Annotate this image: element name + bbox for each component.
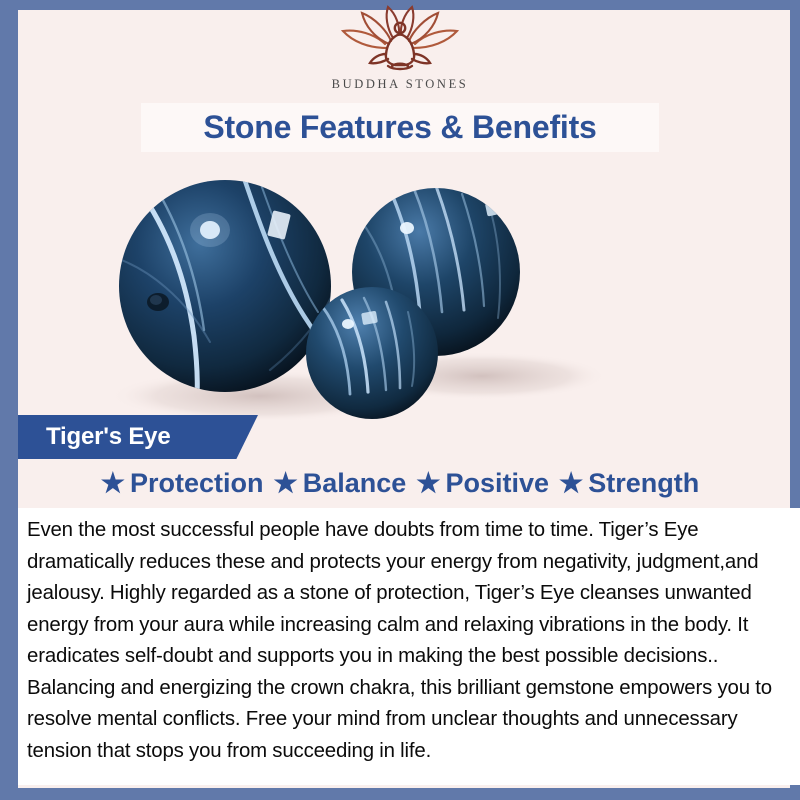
description-box: Even the most successful people have dou… bbox=[18, 508, 800, 785]
benefit-label: Strength bbox=[588, 468, 699, 499]
title-banner: Stone Features & Benefits bbox=[141, 103, 659, 152]
stone-name-ribbon: Tiger's Eye bbox=[18, 415, 258, 459]
benefit-balance: ★ Balance bbox=[273, 468, 406, 499]
star-icon: ★ bbox=[101, 470, 125, 497]
benefit-label: Positive bbox=[445, 468, 549, 499]
page-title: Stone Features & Benefits bbox=[203, 109, 596, 146]
star-icon: ★ bbox=[273, 470, 297, 497]
benefit-label: Balance bbox=[303, 468, 407, 499]
benefit-protection: ★ Protection bbox=[101, 468, 264, 499]
star-icon: ★ bbox=[416, 470, 440, 497]
gemstone-spheres-illustration bbox=[90, 160, 710, 420]
benefits-row: ★ Protection ★ Balance ★ Positive ★ Stre… bbox=[0, 462, 800, 504]
benefit-strength: ★ Strength bbox=[559, 468, 699, 499]
benefit-label: Protection bbox=[130, 468, 264, 499]
benefit-positive: ★ Positive bbox=[416, 468, 549, 499]
stone-photo bbox=[0, 160, 800, 420]
infographic-page: BUDDHA STONES Stone Features & Benefits bbox=[0, 0, 800, 800]
star-icon: ★ bbox=[559, 470, 583, 497]
stone-name-label: Tiger's Eye bbox=[46, 423, 170, 451]
description-text: Even the most successful people have dou… bbox=[27, 515, 786, 767]
